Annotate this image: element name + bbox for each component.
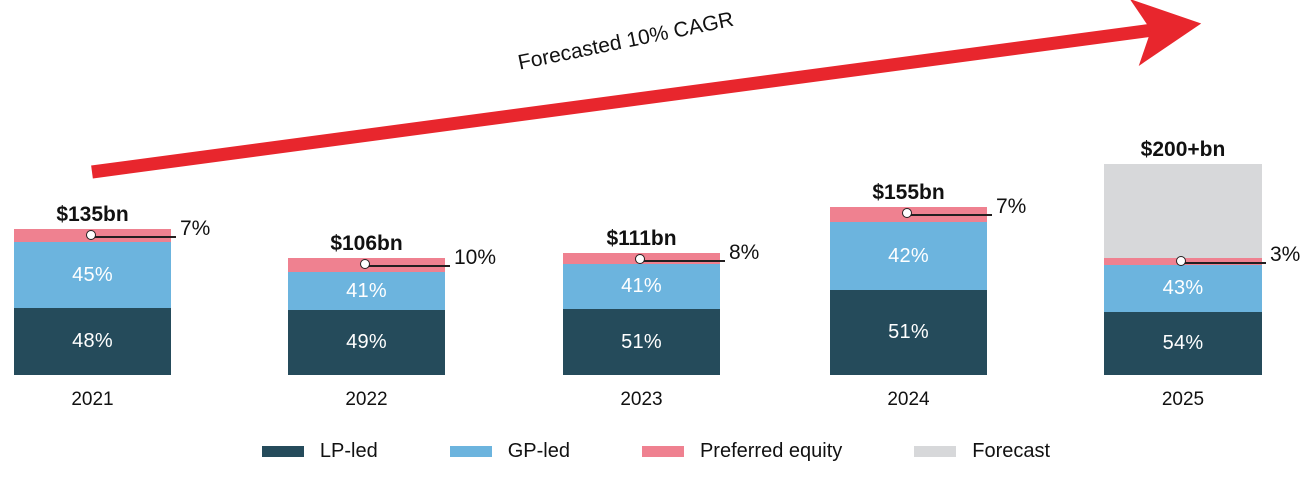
legend-item-lp-led[interactable]: LP-led: [262, 440, 378, 463]
legend-swatch-lp-led-icon: [262, 446, 304, 457]
segment-lp-led-2022[interactable]: 49%: [288, 310, 445, 375]
year-label-2022: 2022: [288, 389, 445, 411]
bar-group-2021: $135bn 45% 48% 2021: [14, 164, 171, 416]
legend-label-forecast: Forecast: [972, 440, 1050, 463]
legend-label-gp-led: GP-led: [508, 440, 570, 463]
total-label-2025: $200+bn: [1104, 138, 1262, 162]
segment-forecast-2025[interactable]: [1104, 164, 1262, 258]
callout-dot-2023: [635, 254, 645, 264]
bar-group-2024: $155bn 42% 51% 2024: [830, 164, 987, 416]
bar-2023[interactable]: 41% 51%: [563, 164, 720, 375]
bar-group-2025: $200+bn 43% 54% 2025: [1104, 164, 1262, 416]
segment-label-gp-led-2021: 45%: [72, 264, 113, 287]
segment-label-lp-led-2023: 51%: [621, 331, 662, 354]
segment-label-gp-led-2023: 41%: [621, 275, 662, 298]
callout-leader-line-2023: [641, 260, 725, 262]
year-label-2023: 2023: [563, 389, 720, 411]
callout-2024: 7%: [908, 208, 998, 222]
segment-label-lp-led-2022: 49%: [346, 331, 387, 354]
bar-2021[interactable]: 45% 48%: [14, 164, 171, 375]
segment-lp-led-2024[interactable]: 51%: [830, 290, 987, 375]
callout-dot-2022: [360, 259, 370, 269]
segment-gp-led-2024[interactable]: 42%: [830, 222, 987, 290]
segment-label-lp-led-2021: 48%: [72, 330, 113, 353]
callout-label-2025: 3%: [1270, 243, 1300, 267]
legend-label-lp-led: LP-led: [320, 440, 378, 463]
bar-group-2023: $111bn 41% 51% 2023: [563, 164, 720, 416]
segment-lp-led-2025[interactable]: 54%: [1104, 312, 1262, 375]
callout-dot-2024: [902, 208, 912, 218]
callout-label-2022: 10%: [454, 246, 496, 270]
legend-item-forecast[interactable]: Forecast: [914, 440, 1050, 463]
segment-lp-led-2021[interactable]: 48%: [14, 308, 171, 375]
segment-label-gp-led-2024: 42%: [888, 245, 929, 268]
bar-2024[interactable]: 42% 51%: [830, 164, 987, 375]
callout-leader-line-2025: [1182, 262, 1266, 264]
chart-legend: LP-led GP-led Preferred equity Forecast: [0, 440, 1312, 463]
callout-label-2024: 7%: [996, 195, 1026, 219]
callout-2021: 7%: [92, 230, 182, 244]
year-label-2021: 2021: [14, 389, 171, 411]
segment-lp-led-2023[interactable]: 51%: [563, 309, 720, 375]
segment-gp-led-2022[interactable]: 41%: [288, 272, 445, 310]
segment-gp-led-2025[interactable]: 43%: [1104, 265, 1262, 312]
segment-label-lp-led-2024: 51%: [888, 321, 929, 344]
legend-swatch-forecast-icon: [914, 446, 956, 457]
callout-2022: 10%: [366, 259, 466, 273]
stacked-bar-chart: Forecasted 10% CAGR $135bn 45% 48% 2021 …: [0, 0, 1312, 482]
segment-label-gp-led-2022: 41%: [346, 280, 387, 303]
callout-dot-2021: [86, 230, 96, 240]
callout-label-2023: 8%: [729, 241, 759, 265]
callout-dot-2025: [1176, 256, 1186, 266]
segment-label-lp-led-2025: 54%: [1163, 332, 1204, 355]
year-label-2025: 2025: [1104, 389, 1262, 411]
year-label-2024: 2024: [830, 389, 987, 411]
legend-label-preferred-equity: Preferred equity: [700, 440, 842, 463]
callout-label-2021: 7%: [180, 217, 210, 241]
cagr-annotation-label: Forecasted 10% CAGR: [516, 8, 736, 76]
callout-leader-line-2022: [366, 265, 450, 267]
segment-gp-led-2021[interactable]: 45%: [14, 242, 171, 308]
callout-2023: 8%: [641, 254, 731, 268]
callout-leader-line-2024: [908, 214, 992, 216]
segment-label-gp-led-2025: 43%: [1163, 277, 1204, 300]
legend-item-preferred-equity[interactable]: Preferred equity: [642, 440, 842, 463]
legend-swatch-gp-led-icon: [450, 446, 492, 457]
legend-item-gp-led[interactable]: GP-led: [450, 440, 570, 463]
segment-gp-led-2023[interactable]: 41%: [563, 264, 720, 309]
callout-leader-line-2021: [92, 236, 176, 238]
bar-group-2022: $106bn 41% 49% 2022: [288, 164, 445, 416]
legend-swatch-preferred-equity-icon: [642, 446, 684, 457]
callout-2025: 3%: [1182, 256, 1272, 270]
